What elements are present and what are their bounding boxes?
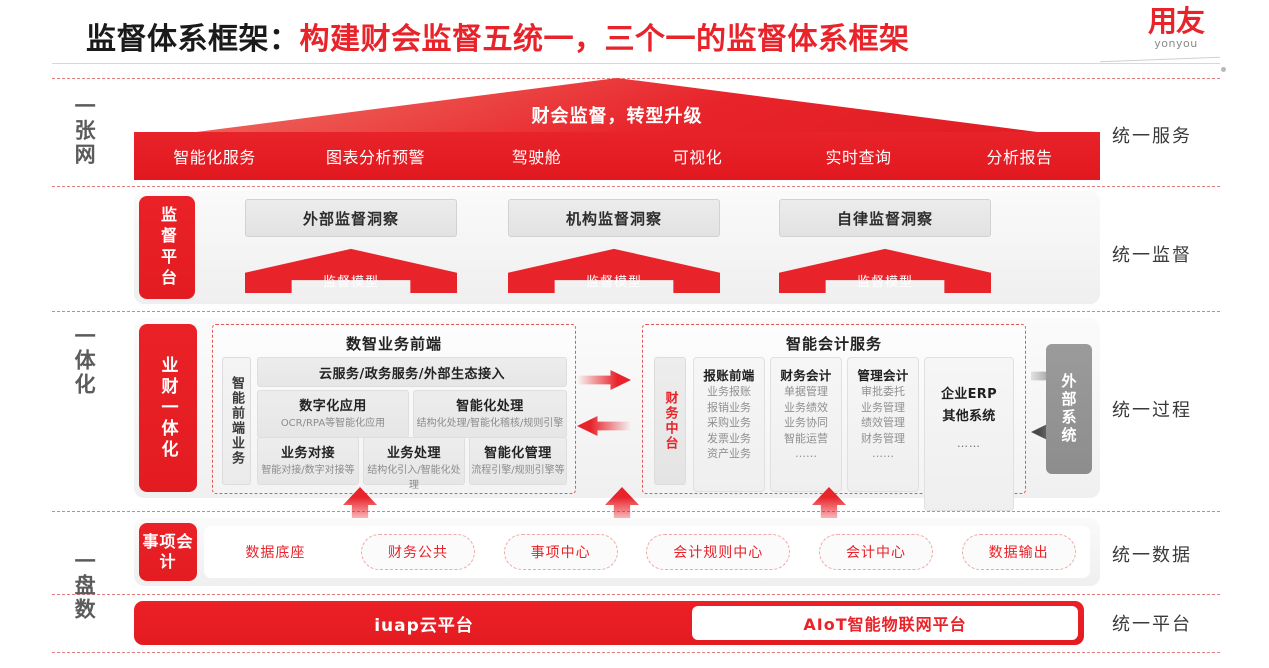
logo-chinese-text: 用友 <box>1121 6 1231 36</box>
cell-intelligent-processing[interactable]: 智能化处理 结构化处理/智能化稽核/规则引擎 <box>413 390 567 438</box>
supervision-platform-label-text: 监督平台 <box>155 206 179 290</box>
acc-item: 绩效管理 <box>848 415 918 431</box>
erp-line-2: 其他系统 <box>925 406 1013 428</box>
page-title: 监督体系框架：构建财会监督五统一，三个一的监督体系框架 <box>86 14 910 58</box>
pill-accounting-rule-center[interactable]: 会计规则中心 <box>646 534 790 570</box>
cell-intelligent-processing-title: 智能化处理 <box>414 395 566 414</box>
acc-column-title: 财务会计 <box>771 365 841 384</box>
acc-column-title: 报账前端 <box>694 365 764 384</box>
service-layer: 财会监督，转型升级 智能化服务 图表分析预警 驾驶舱 可视化 实时查询 分析报告 <box>134 78 1100 180</box>
external-system-text: 外部系统 <box>1059 373 1080 445</box>
service-item-realtime-query[interactable]: 实时查询 <box>778 144 939 168</box>
pill-finance-public[interactable]: 财务公共 <box>361 534 475 570</box>
supervision-head-external[interactable]: 外部监督洞察 <box>245 199 457 237</box>
left-label-one-network: 一张网 <box>72 95 95 167</box>
supervision-layer: 监督平台 外部监督洞察 监督模型 机构监督洞察 监督模型 自律监督洞察 监督模型 <box>134 191 1100 304</box>
supervision-column-self-discipline[interactable]: 自律监督洞察 监督模型 <box>779 199 991 297</box>
cell-business-docking-sub: 智能对接/数字对接等 <box>258 461 358 476</box>
integration-layer: 业财一体化 数智业务前端 智能前端业务 云服务/政务服务/外部生态接入 数字化应… <box>134 318 1100 498</box>
acc-column-reimbursement-frontend[interactable]: 报账前端 业务报账 报销业务 采购业务 发票业务 资产业务 <box>693 357 765 492</box>
left-label-integration: 一体化 <box>72 325 95 397</box>
supervision-model-label-institution: 监督模型 <box>508 271 720 290</box>
yonyou-logo: 用友 yonyou <box>1121 6 1231 50</box>
supervision-column-external[interactable]: 外部监督洞察 监督模型 <box>245 199 457 297</box>
digital-business-frontend-panel: 数智业务前端 智能前端业务 云服务/政务服务/外部生态接入 数字化应用 OCR/… <box>212 324 576 494</box>
acc-item: 单据管理 <box>771 384 841 400</box>
page-title-prefix: 监督体系框架： <box>86 22 300 57</box>
service-item-chart-alert[interactable]: 图表分析预警 <box>295 144 456 168</box>
cell-digital-application-title: 数字化应用 <box>258 395 408 414</box>
acc-item: 采购业务 <box>694 415 764 431</box>
divider-service-supervision <box>52 186 1220 187</box>
iuap-cloud-platform[interactable]: iuap云平台 <box>134 601 714 645</box>
right-label-unified-platform: 统一平台 <box>1112 610 1192 636</box>
intelligent-accounting-service-panel: 智能会计服务 财务中台 报账前端 业务报账 报销业务 采购业务 发票业务 资产业… <box>642 324 1026 494</box>
intelligent-frontend-business-vbar: 智能前端业务 <box>222 357 251 485</box>
logo-latin-text: yonyou <box>1121 37 1231 50</box>
acc-item: 业务协同 <box>771 415 841 431</box>
page-header: 监督体系框架：构建财会监督五统一，三个一的监督体系框架 用友 yonyou <box>0 0 1269 66</box>
cell-business-docking[interactable]: 业务对接 智能对接/数字对接等 <box>257 437 359 485</box>
intelligent-accounting-service-title: 智能会计服务 <box>643 333 1025 354</box>
acc-item: 智能运营 <box>771 431 841 447</box>
supervision-head-institution[interactable]: 机构监督洞察 <box>508 199 720 237</box>
finance-middle-platform-text: 财务中台 <box>661 391 680 451</box>
left-label-one-data-board: 一盘数 <box>72 550 95 622</box>
erp-ellipsis: …… <box>925 436 1013 452</box>
cell-intelligent-management[interactable]: 智能化管理 流程引擎/规则引擎等 <box>469 437 567 485</box>
acc-item: …… <box>771 446 841 462</box>
external-system-block: 外部系统 <box>1046 344 1092 474</box>
intelligent-frontend-business-text: 智能前端业务 <box>227 376 246 466</box>
right-label-unified-supervision: 统一监督 <box>1112 241 1192 267</box>
cell-business-processing-sub: 结构化引入/智能化处理 <box>364 461 464 491</box>
business-finance-integration-label: 业财一体化 <box>139 324 197 492</box>
supervision-column-institution[interactable]: 机构监督洞察 监督模型 <box>508 199 720 297</box>
header-swoosh-line <box>1100 57 1220 73</box>
supervision-arrow-institution: 监督模型 <box>508 247 720 293</box>
pill-accounting-center[interactable]: 会计中心 <box>819 534 933 570</box>
matter-accounting-label: 事项会计 <box>139 523 197 581</box>
aiot-iot-platform[interactable]: AIoT智能物联网平台 <box>692 606 1078 640</box>
page-title-emphasis: 构建财会监督五统一，三个一的监督体系框架 <box>300 22 910 57</box>
finance-middle-platform-vbar: 财务中台 <box>654 357 686 485</box>
divider-bottom <box>52 652 1220 653</box>
service-item-intelligent[interactable]: 智能化服务 <box>134 144 295 168</box>
acc-column-financial-accounting[interactable]: 财务会计 单据管理 业务绩效 业务协同 智能运营 …… <box>770 357 842 492</box>
cell-business-processing[interactable]: 业务处理 结构化引入/智能化处理 <box>363 437 465 485</box>
supervision-model-label-external: 监督模型 <box>245 271 457 290</box>
cell-intelligent-management-sub: 流程引擎/规则引擎等 <box>470 461 566 476</box>
acc-column-management-accounting[interactable]: 管理会计 审批委托 业务管理 绩效管理 财务管理 …… <box>847 357 919 492</box>
arrow-right-icon-red <box>577 370 631 390</box>
right-label-unified-service: 统一服务 <box>1112 122 1192 148</box>
cell-intelligent-processing-sub: 结构化处理/智能化稽核/规则引擎 <box>414 414 566 429</box>
roof-slogan: 财会监督，转型升级 <box>134 102 1100 128</box>
cell-business-processing-title: 业务处理 <box>364 442 464 461</box>
header-rule <box>52 63 1220 70</box>
acc-item: 审批委托 <box>848 384 918 400</box>
cell-business-docking-title: 业务对接 <box>258 442 358 461</box>
cell-digital-application-sub: OCR/RPA等智能化应用 <box>258 414 408 429</box>
acc-item: 报销业务 <box>694 400 764 416</box>
acc-item: 发票业务 <box>694 431 764 447</box>
supervision-platform-label: 监督平台 <box>139 196 195 299</box>
platform-layer: iuap云平台 AIoT智能物联网平台 <box>134 601 1084 645</box>
acc-column-title: 管理会计 <box>848 365 918 384</box>
right-label-unified-process: 统一过程 <box>1112 396 1192 422</box>
arrow-left-icon-red <box>577 416 631 436</box>
header-rule-dot <box>1221 67 1226 72</box>
acc-item: 业务管理 <box>848 400 918 416</box>
pill-matter-center[interactable]: 事项中心 <box>504 534 618 570</box>
supervision-model-label-self-discipline: 监督模型 <box>779 271 991 290</box>
supervision-head-self-discipline[interactable]: 自律监督洞察 <box>779 199 991 237</box>
service-item-visualize[interactable]: 可视化 <box>617 144 778 168</box>
divider-data-platform <box>52 594 1220 595</box>
data-layer: 事项会计 数据底座 财务公共 事项中心 会计规则中心 会计中心 数据输出 <box>134 518 1100 586</box>
service-item-analysis-report[interactable]: 分析报告 <box>939 144 1100 168</box>
pill-data-foundation[interactable]: 数据底座 <box>218 534 332 570</box>
cell-intelligent-management-title: 智能化管理 <box>470 442 566 461</box>
acc-item: 资产业务 <box>694 446 764 462</box>
erp-line-1: 企业ERP <box>925 384 1013 406</box>
service-item-cockpit[interactable]: 驾驶舱 <box>456 144 617 168</box>
divider-supervision-process <box>52 311 1220 312</box>
data-pill-strip: 数据底座 财务公共 事项中心 会计规则中心 会计中心 数据输出 <box>204 526 1090 578</box>
cloud-gov-ecosystem-cell[interactable]: 云服务/政务服务/外部生态接入 <box>257 357 567 387</box>
business-finance-integration-text: 业财一体化 <box>156 356 181 461</box>
acc-item: …… <box>848 446 918 462</box>
acc-column-enterprise-erp[interactable]: 企业ERP 其他系统 …… <box>924 357 1014 511</box>
acc-item: 业务绩效 <box>771 400 841 416</box>
supervision-arrow-external: 监督模型 <box>245 247 457 293</box>
pill-data-output[interactable]: 数据输出 <box>962 534 1076 570</box>
cell-digital-application[interactable]: 数字化应用 OCR/RPA等智能化应用 <box>257 390 409 438</box>
right-label-unified-data: 统一数据 <box>1112 541 1192 567</box>
acc-item: 业务报账 <box>694 384 764 400</box>
service-item-bar: 智能化服务 图表分析预警 驾驶舱 可视化 实时查询 分析报告 <box>134 132 1100 180</box>
acc-item: 财务管理 <box>848 431 918 447</box>
divider-process-data <box>52 511 1220 512</box>
supervision-arrow-self-discipline: 监督模型 <box>779 247 991 293</box>
digital-business-frontend-title: 数智业务前端 <box>213 333 575 354</box>
